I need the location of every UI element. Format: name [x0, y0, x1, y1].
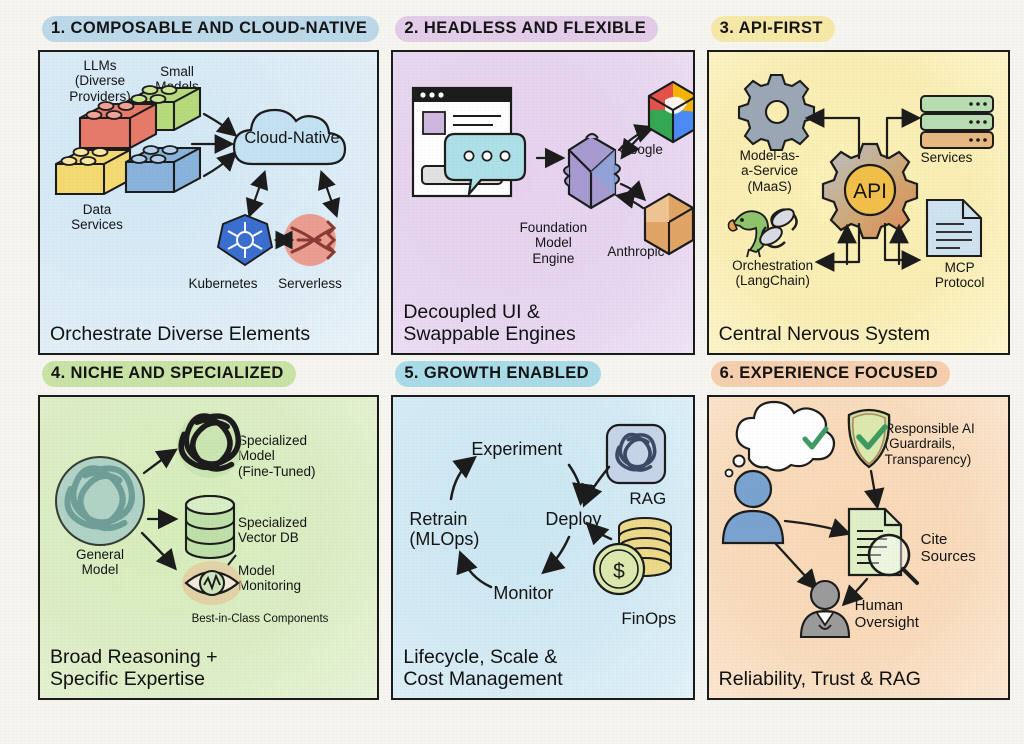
api-to-orchestration-arrow — [819, 224, 859, 262]
panel-2-tagline: Decoupled UI &Swappable Engines — [403, 301, 684, 346]
cite-to-oversight-arrow — [845, 579, 867, 603]
api-to-maas-arrow — [809, 118, 859, 158]
human-oversight-icon — [801, 581, 849, 637]
panel-5-tagline: Lifecycle, Scale &Cost Management — [403, 646, 684, 691]
serverless-arrows-icon — [284, 214, 336, 266]
panel-5-box: Experiment Deploy Monitor Retrain(MLOps)… — [391, 395, 694, 700]
panel-experience-focused: 6. EXPERIENCE FOCUSED Accurateoutput Res… — [707, 361, 1010, 700]
kubernetes-helm-icon — [218, 215, 272, 265]
panel-4-box: GeneralModel SpecializedModel(Fine-Tuned… — [38, 395, 379, 700]
panel-3-box: Model-as-a-Service(MaaS) Services Orches… — [707, 50, 1010, 355]
panel-4-title: 4. NICHE AND SPECIALIZED — [42, 361, 296, 387]
general-model-knot-icon — [56, 457, 144, 545]
google-cube-icon — [649, 82, 694, 142]
eye-monitor-icon — [182, 555, 242, 605]
document-icon — [927, 200, 981, 256]
panel-6-title: 6. EXPERIENCE FOCUSED — [711, 361, 950, 387]
panel-grid: 1. COMPOSABLE AND CLOUD-NATIVE LLMs(Dive… — [0, 0, 1024, 744]
panel-1-box: LLMs(DiverseProviders) SmallModels DataS… — [38, 50, 379, 355]
general-to-specialized-arrows — [142, 451, 174, 567]
api-hub-label: API — [853, 180, 887, 203]
monitor-to-retrain-arrow — [461, 555, 491, 587]
server-stack-icon — [921, 96, 993, 148]
panel-5-title: 5. GROWTH ENABLED — [395, 361, 601, 387]
rag-model-icon — [607, 425, 665, 483]
gear-icon — [739, 75, 814, 150]
lego-brick-red-icon — [80, 102, 156, 148]
panel-growth-enabled: 5. GROWTH ENABLED Experiment Deploy Moni… — [391, 361, 694, 700]
api-gear-icon: API — [823, 144, 917, 238]
deploy-to-monitor-arrow — [545, 537, 569, 571]
panel-4-tagline: Broad Reasoning +Specific Expertise — [50, 646, 369, 691]
panel-api-first: 3. API-FIRST Model-as-a-Service(MaaS) Se… — [707, 16, 1010, 355]
lifecycle-arrows — [451, 459, 581, 587]
experiment-to-deploy-arrow — [569, 465, 581, 501]
cloud-icon: Cloud-Native — [234, 110, 345, 164]
cloud-to-runtime-arrows — [250, 174, 336, 214]
panel-1-title: 1. COMPOSABLE AND CLOUD-NATIVE — [42, 16, 379, 42]
anthropic-cube-icon — [645, 194, 693, 254]
lego-brick-yellow-icon — [56, 148, 130, 194]
shield-to-cite-arrow — [871, 471, 877, 505]
user-to-oversight-arrow — [775, 543, 815, 587]
panel-6-tagline: Reliability, Trust & RAG — [719, 668, 1000, 691]
panel-3-title: 3. API-FIRST — [711, 16, 835, 42]
coin-stack-icon: $ — [594, 518, 671, 594]
panel-2-title: 2. HEADLESS AND FLEXIBLE — [395, 16, 658, 42]
panel-2-box: FoundationModelEngine Google Anthropic — [391, 50, 694, 355]
cloud-native-label: Cloud-Native — [244, 129, 339, 147]
engine-to-google-arrows — [619, 128, 651, 156]
user-to-cite-arrow — [785, 521, 847, 533]
retrain-to-experiment-arrow — [451, 459, 473, 499]
panel-1-tagline: Orchestrate Diverse Elements — [50, 323, 369, 346]
lego-brick-blue-icon — [126, 146, 200, 192]
database-cylinder-icon — [186, 496, 234, 558]
panel-6-box: Accurateoutput Responsible AI(Guardrails… — [707, 395, 1010, 700]
panel-3-tagline: Central Nervous System — [719, 323, 1000, 346]
user-arrows — [775, 521, 847, 587]
api-to-services-arrow — [887, 118, 917, 158]
puzzle-cube-icon — [564, 134, 620, 208]
engine-to-anthropic-arrows — [619, 184, 643, 208]
panel-headless-flexible: 2. HEADLESS AND FLEXIBLE FoundationModel… — [391, 16, 694, 355]
shield-icon — [849, 410, 889, 467]
thought-bubble-icon — [725, 402, 834, 477]
finops-to-deploy-arrow — [589, 525, 611, 539]
panel-niche-specialized: 4. NICHE AND SPECIALIZED GeneralModel Sp… — [38, 361, 379, 700]
panel-composable-cloud-native: 1. COMPOSABLE AND CLOUD-NATIVE LLMs(Dive… — [38, 16, 379, 355]
specialized-model-knot-icon — [177, 412, 243, 478]
dollar-sign-icon: $ — [614, 560, 626, 583]
user-avatar-icon — [723, 471, 783, 543]
rag-to-deploy-arrow — [585, 467, 609, 503]
document-magnifier-icon — [849, 509, 917, 583]
